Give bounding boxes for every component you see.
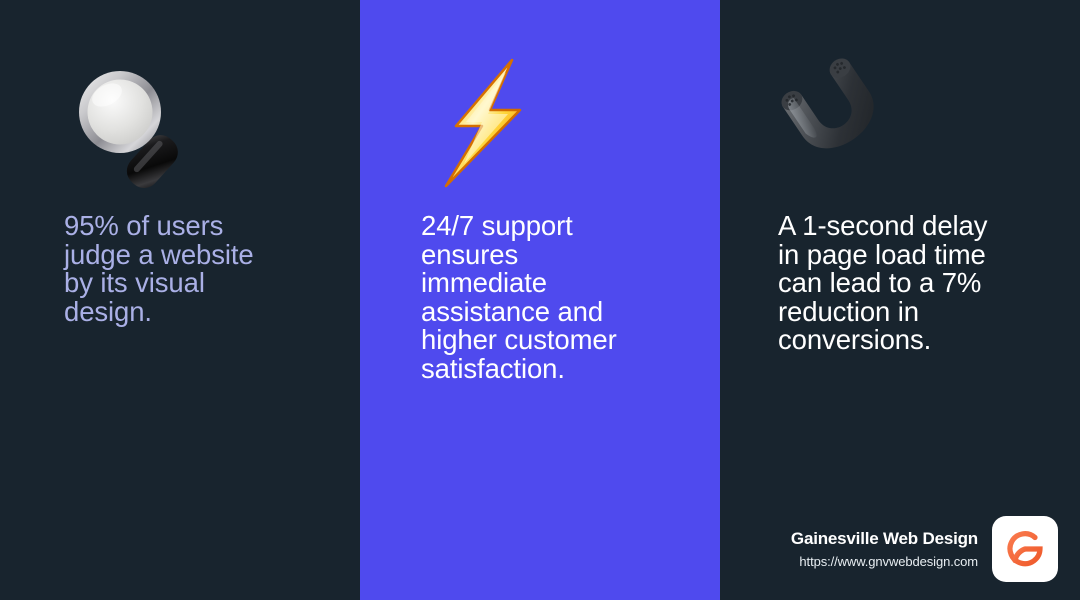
stat-text-visual-design: 95% of users judge a website by its visu… [64,212,334,326]
gnv-g-logo-icon[interactable] [992,516,1058,582]
brand-name: Gainesville Web Design [791,529,978,549]
panel-support: 24/7 support ensures immediate assistanc… [360,0,720,600]
lightning-bolt-icon [420,52,560,192]
branding[interactable]: Gainesville Web Design https://www.gnvwe… [791,516,1058,582]
brand-url[interactable]: https://www.gnvwebdesign.com [799,554,978,569]
panel-page-speed: A 1-second delay in page load time can l… [720,0,1080,600]
stat-text-page-speed: A 1-second delay in page load time can l… [778,212,1058,355]
branding-text: Gainesville Web Design https://www.gnvwe… [791,529,978,569]
stat-text-support: 24/7 support ensures immediate assistanc… [421,212,693,384]
infographic-slide: 95% of users judge a website by its visu… [0,0,1080,600]
magnifying-glass-icon [62,55,202,195]
panel-visual-design: 95% of users judge a website by its visu… [0,0,360,600]
telephone-receiver-icon [770,50,910,190]
